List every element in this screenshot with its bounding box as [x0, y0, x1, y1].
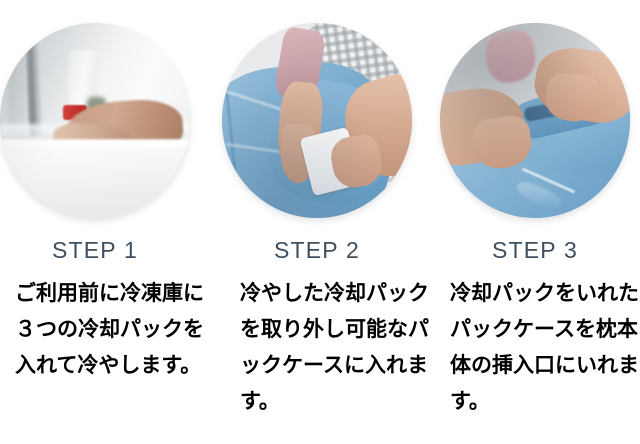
step-3-photo-pillow-opening — [440, 23, 630, 218]
photo-vignette — [440, 23, 630, 218]
step-1-photo-wrap — [0, 23, 190, 218]
step-1-photo-freezer — [0, 23, 190, 218]
step-1-body-text: ご利用前に冷凍庫に３つの冷却パックを入れて冷やします。 — [15, 276, 207, 384]
step-2-photo-pack-case — [222, 23, 412, 218]
photo-vignette — [0, 23, 190, 218]
step-2-heading: STEP 2 — [217, 236, 417, 264]
step-column-2: STEP 2 冷やした冷却パックを取り外し可能なパックケースに入れます。 — [217, 0, 417, 444]
step-1-heading: STEP 1 — [0, 236, 195, 264]
step-3-body-text: 冷却パックをいれたパックケースを枕本体の挿入口にいれます。 — [450, 276, 640, 420]
step-2-body-text: 冷やした冷却パックを取り外し可能なパックケースに入れます。 — [240, 276, 432, 420]
step-3-heading: STEP 3 — [435, 236, 635, 264]
step-3-photo-wrap — [440, 23, 630, 218]
photo-vignette — [222, 23, 412, 218]
step-2-photo-wrap — [222, 23, 412, 218]
step-column-1: STEP 1 ご利用前に冷凍庫に３つの冷却パックを入れて冷やします。 — [0, 0, 195, 444]
step-column-3: STEP 3 冷却パックをいれたパックケースを枕本体の挿入口にいれます。 — [435, 0, 635, 444]
steps-row: STEP 1 ご利用前に冷凍庫に３つの冷却パックを入れて冷やします。 — [0, 0, 640, 444]
